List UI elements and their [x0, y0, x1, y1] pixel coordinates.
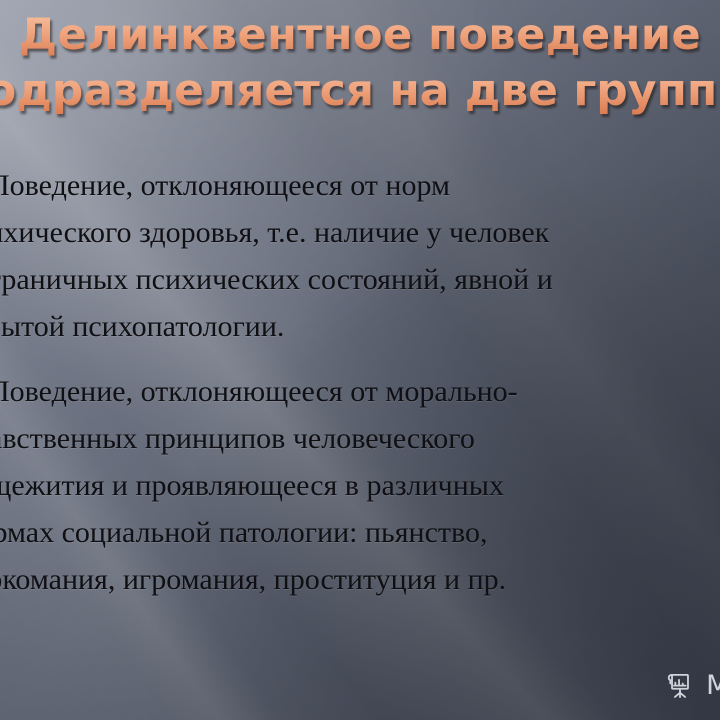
presentation-slide: Делинквентное поведение одразделяется на… [0, 0, 720, 720]
slide-body: 1. Поведение, отклоняющееся от норм псих… [0, 162, 720, 603]
paragraph-2-line-1-text: Поведение, отклоняющееся от морально- [0, 375, 518, 408]
slide-title-line-2: одразделяется на две группы [0, 63, 720, 118]
paragraph-2-line-1: 2. Поведение, отклоняющееся от морально- [0, 368, 720, 415]
watermark-label: My [706, 670, 720, 701]
paragraph-2-line-3: общежития и проявляющееся в различных [0, 462, 720, 509]
presentation-easel-chart-icon [663, 668, 697, 702]
paragraph-1-line-2: психического здоровья, т.е. наличие у че… [0, 209, 720, 256]
body-paragraph-1: 1. Поведение, отклоняющееся от норм псих… [0, 162, 720, 350]
watermark[interactable]: My [663, 668, 720, 702]
slide-title-line-1: Делинквентное поведение [0, 8, 720, 63]
paragraph-1-line-1: 1. Поведение, отклоняющееся от норм [0, 162, 720, 209]
paragraph-2-line-5: наркомания, игромания, проституция и пр. [0, 556, 720, 603]
slide-title: Делинквентное поведение одразделяется на… [0, 8, 720, 118]
paragraph-1-line-3: пограничных психических состояний, явной… [0, 256, 720, 303]
body-paragraph-2: 2. Поведение, отклоняющееся от морально-… [0, 368, 720, 603]
paragraph-1-line-1-text: Поведение, отклоняющееся от норм [0, 169, 450, 202]
paragraph-1-line-4: скрытой психопатологии. [0, 303, 720, 350]
paragraph-2-line-4: формах социальной патологии: пьянство, [0, 509, 720, 556]
paragraph-2-line-2: нравственных принципов человеческого [0, 415, 720, 462]
